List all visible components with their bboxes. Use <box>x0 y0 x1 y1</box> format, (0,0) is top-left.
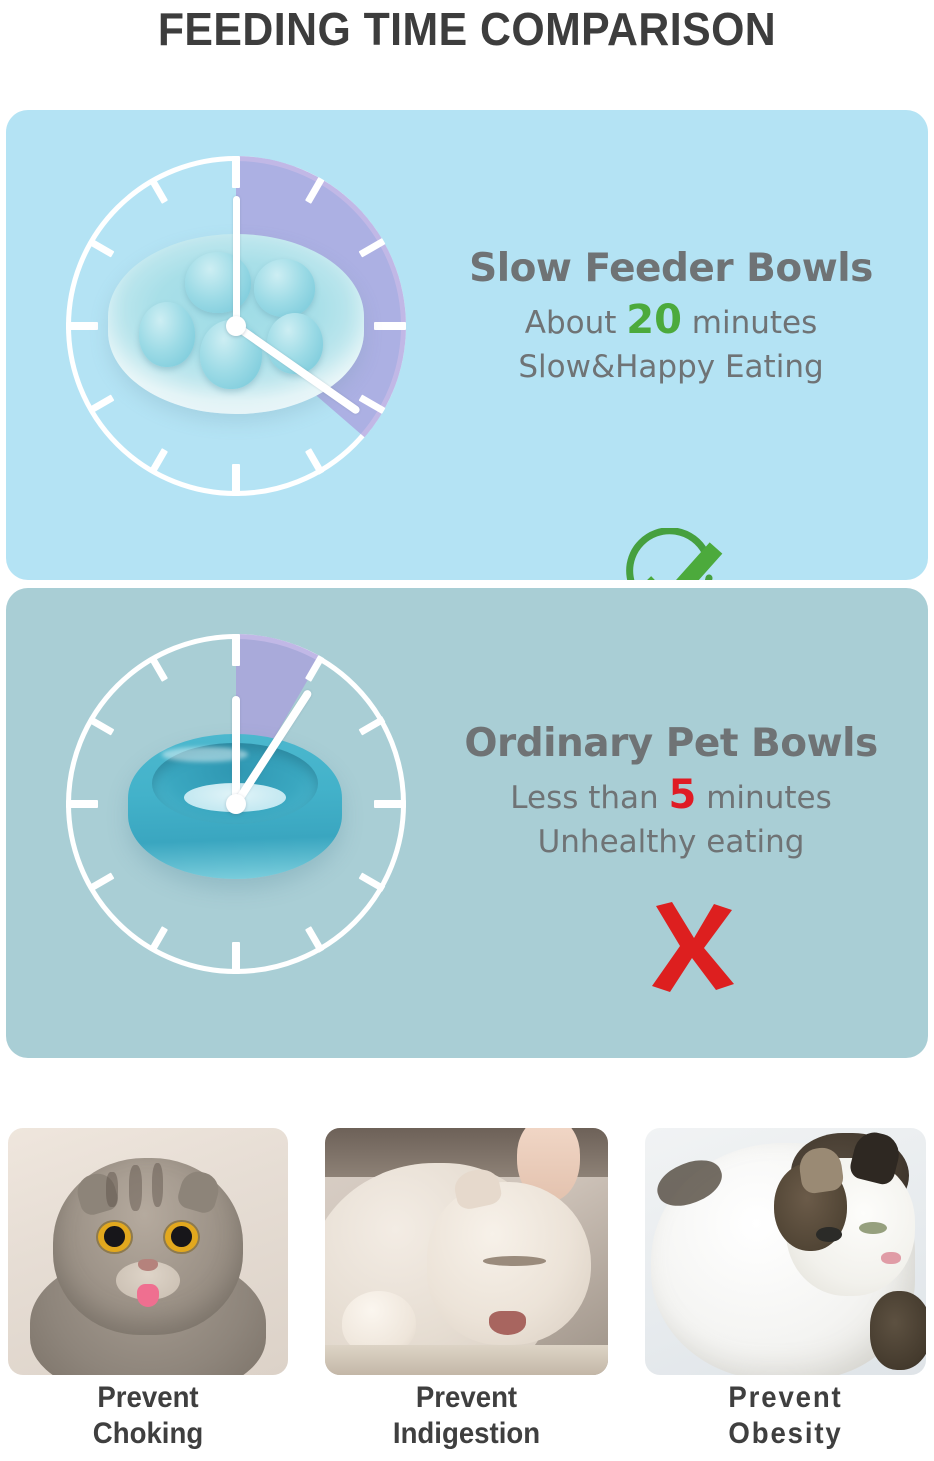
ordinary-bowl-heading: Ordinary Pet Bowls <box>426 721 916 766</box>
clock-tick-6 <box>232 464 240 496</box>
cat-stripe <box>152 1163 163 1207</box>
slow-feeder-time-line: About 20 minutes <box>426 297 916 343</box>
slow-feeder-text-block: Slow Feeder Bowls About 20 minutes Slow&… <box>426 246 916 385</box>
clock-tick-12 <box>232 156 240 188</box>
cat-eye-left <box>98 1222 130 1252</box>
caption-line-2: Indigestion <box>336 1416 596 1452</box>
cross-mark-icon <box>642 900 742 994</box>
benefit-caption-obesity: Prevent Obesity <box>656 1380 915 1452</box>
bowl-nub <box>254 259 315 317</box>
cat-stripe <box>129 1165 142 1211</box>
cat-photo-surprised-tabby <box>8 1128 288 1375</box>
cat-head <box>53 1158 243 1336</box>
bowl-nub <box>139 302 195 367</box>
cat-ear-right <box>176 1167 223 1215</box>
cat-photo-obese-cat <box>645 1128 926 1375</box>
benefit-caption-choking: Prevent Choking <box>19 1380 277 1452</box>
cat-photo-sleeping-cream-cat <box>325 1128 608 1375</box>
benefit-photo-choking <box>8 1128 288 1375</box>
clock-tick-9 <box>66 800 98 808</box>
ordinary-bowl-subtitle: Unhealthy eating <box>426 824 916 860</box>
benefit-photo-obesity <box>645 1128 926 1375</box>
cat-tongue <box>137 1284 160 1307</box>
caption-line-1: Prevent <box>656 1380 915 1416</box>
cat-stripe <box>106 1172 117 1208</box>
cat-eye-right <box>859 1222 887 1234</box>
clock-tick-6 <box>232 942 240 974</box>
time-unit: minutes <box>692 305 817 341</box>
ordinary-bowl-time-line: Less than 5 minutes <box>426 772 916 818</box>
slow-feeder-heading: Slow Feeder Bowls <box>426 246 916 291</box>
time-value: 20 <box>626 297 682 343</box>
check-circle-icon <box>613 528 723 580</box>
caption-line-1: Prevent <box>336 1380 596 1416</box>
time-value: 5 <box>669 772 697 818</box>
cat-tail <box>870 1291 926 1370</box>
clock-center-pin <box>226 794 246 814</box>
caption-line-2: Obesity <box>656 1416 915 1452</box>
clock-tick-9 <box>66 322 98 330</box>
clock-minute-hand <box>232 696 240 804</box>
time-prefix: Less than <box>510 780 658 816</box>
clock-slow-feeder <box>66 156 406 496</box>
clock-minute-hand <box>233 196 240 326</box>
slow-feeder-subtitle: Slow&Happy Eating <box>426 349 916 385</box>
cat-eye-right <box>165 1222 197 1252</box>
time-unit: minutes <box>706 780 831 816</box>
comparison-panel-ordinary-bowl: Ordinary Pet Bowls Less than 5 minutes U… <box>6 588 928 1058</box>
cat-nose <box>881 1252 901 1264</box>
caption-line-2: Choking <box>19 1416 277 1452</box>
page-title: FEEDING TIME COMPARISON <box>33 2 902 56</box>
clock-tick-3 <box>374 322 406 330</box>
cat-eye-left <box>816 1227 841 1242</box>
comparison-panel-slow-feeder: Slow Feeder Bowls About 20 minutes Slow&… <box>6 110 928 580</box>
time-prefix: About <box>525 305 617 341</box>
clock-tick-12 <box>232 634 240 666</box>
clock-tick-3 <box>374 800 406 808</box>
bowl-nub <box>185 252 252 313</box>
ordinary-bowl-text-block: Ordinary Pet Bowls Less than 5 minutes U… <box>426 721 916 860</box>
caption-line-1: Prevent <box>19 1380 277 1416</box>
rug <box>325 1345 608 1375</box>
benefit-photo-indigestion <box>325 1128 608 1375</box>
clock-ordinary-bowl <box>66 634 406 974</box>
benefit-caption-indigestion: Prevent Indigestion <box>336 1380 596 1452</box>
infographic-page: FEEDING TIME COMPARISON <box>0 0 934 1461</box>
clock-center-pin <box>226 316 246 336</box>
benefit-photo-row <box>0 1128 934 1375</box>
